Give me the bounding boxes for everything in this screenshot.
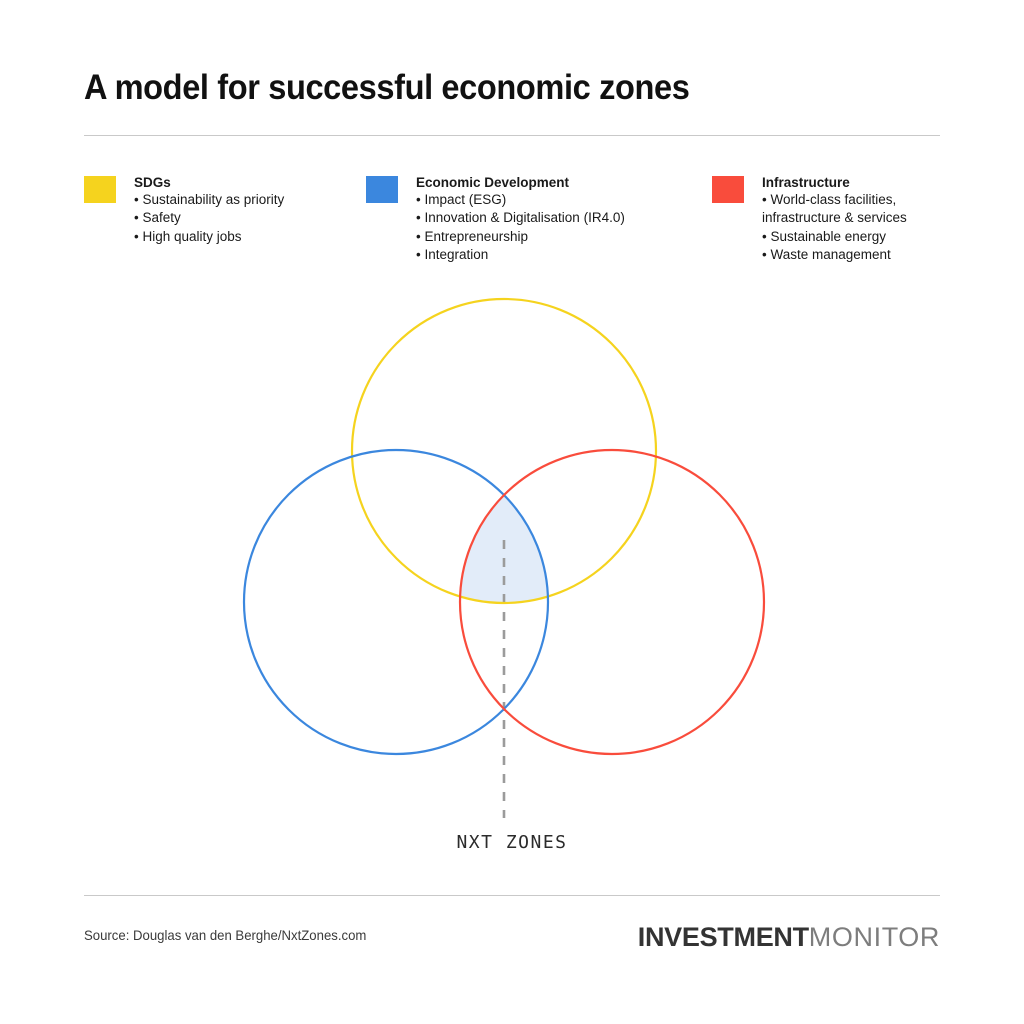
legend-bullets-infrastructure: • World-class facilities, infrastructure… bbox=[762, 191, 942, 264]
list-item: • Innovation & Digitalisation (IR4.0) bbox=[416, 209, 625, 227]
header-divider bbox=[84, 135, 940, 136]
list-item: • Sustainability as priority bbox=[134, 191, 284, 209]
economic-development-circle bbox=[244, 450, 548, 754]
infrastructure-circle bbox=[460, 450, 764, 754]
legend-text-sdgs: SDGs • Sustainability as priority • Safe… bbox=[134, 174, 284, 246]
list-item: • High quality jobs bbox=[134, 228, 284, 246]
list-item: • Safety bbox=[134, 209, 284, 227]
list-item: • Waste management bbox=[762, 246, 942, 264]
footer-divider bbox=[84, 895, 940, 896]
venn-diagram bbox=[0, 0, 1024, 1024]
source-credit: Source: Douglas van den Berghe/NxtZones.… bbox=[84, 927, 366, 943]
legend-text-economic-development: Economic Development • Impact (ESG) • In… bbox=[416, 174, 625, 264]
sdgs-circle bbox=[352, 299, 656, 603]
legend-bullets-economic-development: • Impact (ESG) • Innovation & Digitalisa… bbox=[416, 191, 625, 264]
venn-intersection-region bbox=[460, 450, 764, 754]
legend-text-infrastructure: Infrastructure • World-class facilities,… bbox=[762, 174, 942, 264]
legend-title-economic-development: Economic Development bbox=[416, 174, 625, 191]
infographic-page: A model for successful economic zones SD… bbox=[0, 0, 1024, 1024]
logo-primary: INVESTMENT bbox=[638, 922, 809, 952]
venn-center-label: NXT ZONES bbox=[0, 832, 1024, 853]
sdgs-swatch-icon bbox=[84, 176, 116, 203]
list-item: • Impact (ESG) bbox=[416, 191, 625, 209]
legend-title-sdgs: SDGs bbox=[134, 174, 284, 191]
list-item: • Sustainable energy bbox=[762, 228, 942, 246]
economic-development-swatch-icon bbox=[366, 176, 398, 203]
legend-bullets-sdgs: • Sustainability as priority • Safety • … bbox=[134, 191, 284, 246]
venn-intersection-fill bbox=[460, 450, 764, 754]
page-title: A model for successful economic zones bbox=[84, 68, 689, 108]
infrastructure-swatch-icon bbox=[712, 176, 744, 203]
list-item: • World-class facilities, infrastructure… bbox=[762, 191, 942, 228]
logo-secondary: MONITOR bbox=[809, 922, 940, 952]
investment-monitor-logo: INVESTMENTMONITOR bbox=[638, 922, 940, 952]
list-item: • Entrepreneurship bbox=[416, 228, 625, 246]
list-item: • Integration bbox=[416, 246, 625, 264]
legend: SDGs • Sustainability as priority • Safe… bbox=[0, 176, 1024, 286]
legend-title-infrastructure: Infrastructure bbox=[762, 174, 942, 191]
